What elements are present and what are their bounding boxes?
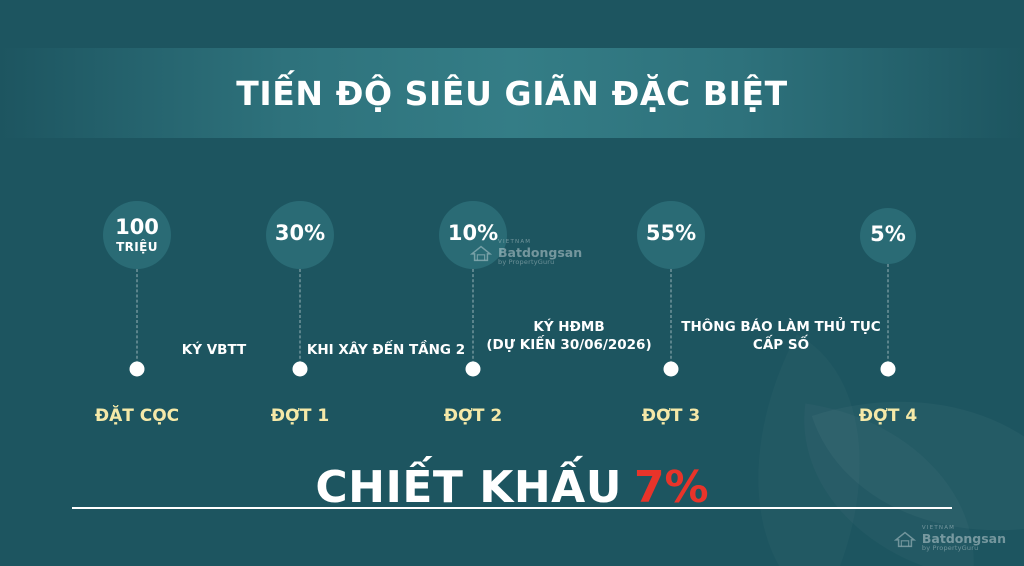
timeline-stage-label: ĐỢT 1 bbox=[271, 406, 329, 426]
timeline-segment-label: KÝ VBTT bbox=[182, 341, 246, 359]
watermark-name: Batdongsan bbox=[922, 532, 1006, 545]
payment-timeline: 100 TRIỆU ĐẶT CỌC 30% ĐỢT 1 10% ĐỢT 2 55… bbox=[0, 138, 1024, 458]
timeline-segment-label: THÔNG BÁO LÀM THỦ TỤC CẤP SỐ bbox=[681, 318, 880, 354]
watermark-top: VIETNAM bbox=[922, 526, 1006, 532]
timeline-connector bbox=[473, 269, 474, 369]
segment-line-1: KÝ HĐMB bbox=[486, 318, 651, 336]
timeline-bubble: 30% bbox=[266, 201, 334, 269]
timeline-dot bbox=[466, 362, 481, 377]
page-title: TIẾN ĐỘ SIÊU GIÃN ĐẶC BIỆT bbox=[236, 74, 788, 113]
infographic-canvas: TIẾN ĐỘ SIÊU GIÃN ĐẶC BIỆT 100 TRIỆU ĐẶT… bbox=[0, 0, 1024, 566]
bubble-amount: 100 bbox=[115, 216, 159, 239]
timeline-segment-label: KHI XÂY ĐẾN TẦNG 2 bbox=[307, 341, 465, 359]
watermark-text: VIETNAM Batdongsan by PropertyGuru bbox=[922, 526, 1006, 552]
header-banner: TIẾN ĐỘ SIÊU GIÃN ĐẶC BIỆT bbox=[0, 48, 1024, 138]
timeline-connector bbox=[888, 264, 889, 369]
house-logo-icon bbox=[894, 528, 916, 550]
timeline-stage-label: ĐỢT 4 bbox=[859, 406, 917, 426]
timeline-dot bbox=[130, 362, 145, 377]
timeline-connector bbox=[137, 269, 138, 369]
timeline-stage-label: ĐẶT CỌC bbox=[95, 406, 179, 426]
watermark-sub: by PropertyGuru bbox=[922, 545, 1006, 552]
timeline-segment-label: KÝ HĐMB (DỰ KIẾN 30/06/2026) bbox=[486, 318, 651, 354]
timeline-connector bbox=[300, 269, 301, 369]
segment-line-1: KHI XÂY ĐẾN TẦNG 2 bbox=[307, 341, 465, 359]
discount-label: CHIẾT KHẤU bbox=[315, 462, 622, 513]
bubble-amount: 55% bbox=[646, 222, 696, 245]
segment-line-1: THÔNG BÁO LÀM THỦ TỤC bbox=[681, 318, 880, 336]
timeline-bubble: 5% bbox=[860, 208, 916, 264]
segment-line-2: CẤP SỐ bbox=[681, 336, 880, 354]
segment-line-1: KÝ VBTT bbox=[182, 341, 246, 359]
discount-value: 7% bbox=[634, 462, 709, 513]
watermark-corner: VIETNAM Batdongsan by PropertyGuru bbox=[894, 526, 1006, 552]
timeline-dot bbox=[293, 362, 308, 377]
timeline-dot bbox=[664, 362, 679, 377]
timeline-connector bbox=[671, 269, 672, 369]
segment-line-2: (DỰ KIẾN 30/06/2026) bbox=[486, 336, 651, 354]
bubble-amount: 5% bbox=[870, 223, 906, 246]
bubble-amount: 10% bbox=[448, 222, 498, 245]
bubble-amount: 30% bbox=[275, 222, 325, 245]
timeline-stage-label: ĐỢT 3 bbox=[642, 406, 700, 426]
timeline-bubble: 100 TRIỆU bbox=[103, 201, 171, 269]
timeline-bubble: 10% bbox=[439, 201, 507, 269]
timeline-bubble: 55% bbox=[637, 201, 705, 269]
footer-discount-banner: CHIẾT KHẤU7% bbox=[0, 462, 1024, 513]
timeline-stage-label: ĐỢT 2 bbox=[444, 406, 502, 426]
timeline-dot bbox=[881, 362, 896, 377]
bubble-unit: TRIỆU bbox=[116, 241, 158, 254]
